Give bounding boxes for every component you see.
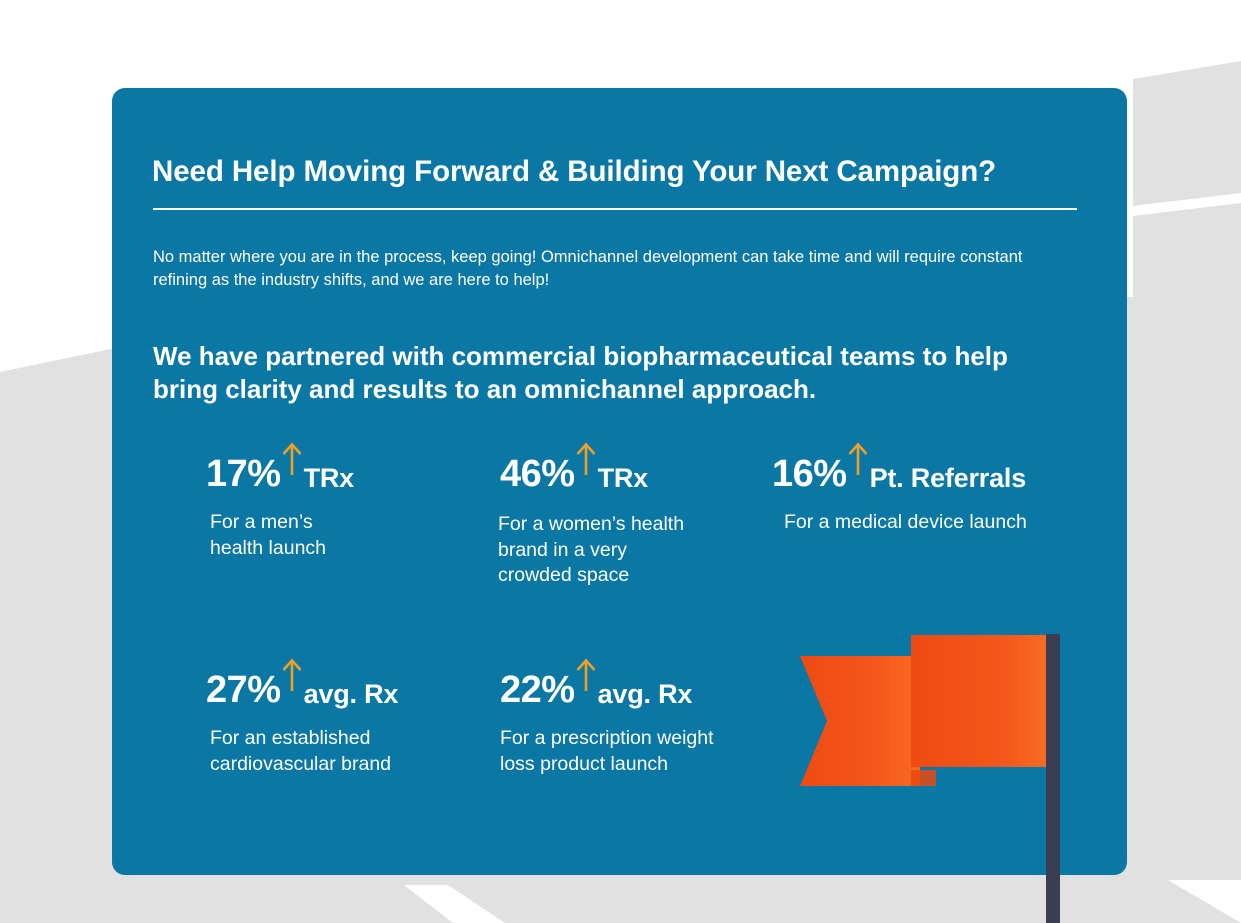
background-gray-panel-right bbox=[1133, 61, 1241, 880]
stat-unit: TRx bbox=[304, 463, 354, 493]
lede-paragraph: We have partnered with commercial biopha… bbox=[153, 340, 1053, 407]
stat-description: For a prescription weight loss product l… bbox=[500, 726, 714, 777]
stat-unit: avg. Rx bbox=[304, 679, 399, 709]
stat-unit: avg. Rx bbox=[598, 679, 693, 709]
stat-value: 16% bbox=[772, 453, 847, 495]
stat-value: 22% bbox=[500, 669, 575, 711]
stat-headline: 46%TRx bbox=[500, 450, 684, 496]
page-title: Need Help Moving Forward & Building Your… bbox=[152, 156, 1087, 188]
stat-value: 46% bbox=[500, 453, 575, 495]
arrow-up-icon bbox=[575, 657, 597, 693]
stat-description: For a medical device launch bbox=[784, 510, 1027, 536]
flag-panel-right bbox=[911, 635, 1046, 767]
flag-illustration bbox=[790, 620, 1075, 923]
intro-paragraph: No matter where you are in the process, … bbox=[153, 246, 1033, 292]
stat-description: For an established cardiovascular brand bbox=[210, 726, 398, 777]
flag-banner-left bbox=[800, 656, 920, 786]
stat-item: 46%TRx For a women’s health brand in a v… bbox=[500, 450, 684, 589]
stat-unit: Pt. Referrals bbox=[870, 463, 1026, 493]
infographic-canvas: Need Help Moving Forward & Building Your… bbox=[0, 0, 1241, 923]
stat-item: 16%Pt. Referrals For a medical device la… bbox=[772, 450, 1027, 536]
arrow-up-icon bbox=[847, 441, 869, 477]
stat-unit: TRx bbox=[598, 463, 648, 493]
arrow-up-icon bbox=[281, 657, 303, 693]
arrow-up-icon bbox=[575, 441, 597, 477]
stat-value: 17% bbox=[206, 453, 281, 495]
arrow-up-icon bbox=[281, 441, 303, 477]
title-divider bbox=[153, 208, 1077, 210]
stat-item: 17%TRx For a men’s health launch bbox=[206, 450, 354, 561]
flag-pole bbox=[1046, 634, 1060, 923]
stat-item: 27%avg. Rx For an established cardiovasc… bbox=[206, 666, 398, 777]
flag-fold-shadow bbox=[911, 770, 936, 786]
stat-item: 22%avg. Rx For a prescription weight los… bbox=[500, 666, 714, 777]
stat-value: 27% bbox=[206, 669, 281, 711]
stat-headline: 16%Pt. Referrals bbox=[772, 450, 1027, 496]
stat-headline: 17%TRx bbox=[206, 450, 354, 496]
stat-headline: 27%avg. Rx bbox=[206, 666, 398, 712]
stat-description: For a men’s health launch bbox=[210, 510, 354, 561]
stat-headline: 22%avg. Rx bbox=[500, 666, 714, 712]
stat-description: For a women’s health brand in a very cro… bbox=[498, 512, 684, 589]
